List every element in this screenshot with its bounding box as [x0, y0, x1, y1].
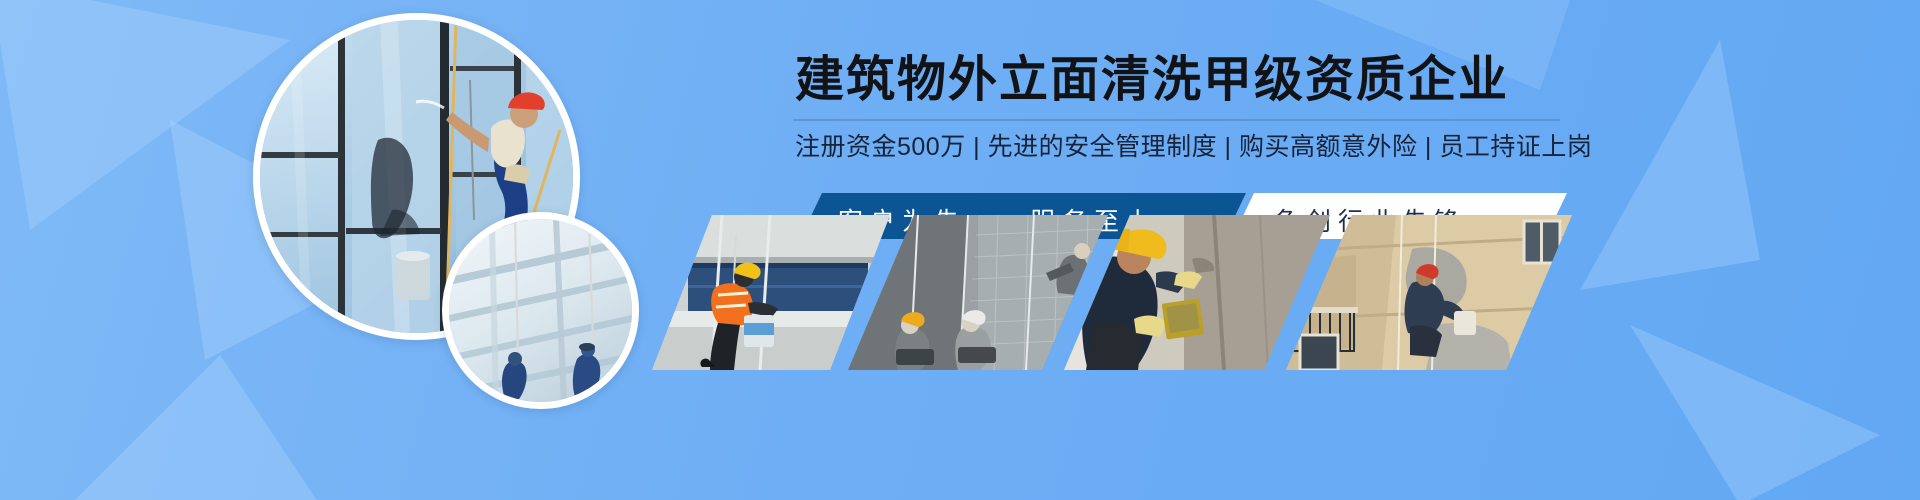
photo-strip	[652, 215, 1572, 370]
background-triangle-icon	[1630, 325, 1880, 500]
strip-photo-2	[848, 215, 1108, 370]
strip-photo-4	[1286, 215, 1572, 370]
page-subtitle: 注册资金500万 | 先进的安全管理制度 | 购买高额意外险 | 员工持证上岗	[795, 130, 1592, 164]
background-triangle-icon	[60, 355, 320, 500]
promo-banner: 建筑物外立面清洗甲级资质企业 注册资金500万 | 先进的安全管理制度 | 购买…	[0, 0, 1920, 500]
circle-photo-small	[442, 212, 639, 409]
strip-photo-3	[1064, 215, 1330, 370]
background-triangle-icon	[1580, 40, 1800, 290]
page-title: 建筑物外立面清洗甲级资质企业	[795, 52, 1509, 108]
strip-photo-1	[652, 215, 890, 370]
title-divider	[793, 119, 1560, 121]
